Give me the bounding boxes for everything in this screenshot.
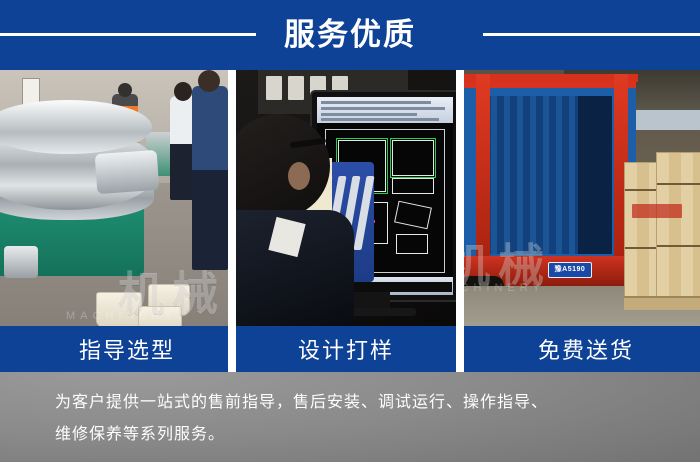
footer-text: 为客户提供一站式的售前指导，售后安装、调试运行、操作指导、 维修保养等系列服务。 bbox=[55, 386, 655, 450]
caption-label-delivery: 免费送货 bbox=[530, 333, 634, 365]
license-plate: 豫A5190 bbox=[548, 262, 592, 278]
service-card-delivery[interactable]: 豫A5190 机械 bbox=[464, 70, 700, 372]
banner-header: 服务优质 bbox=[0, 0, 700, 70]
caption-label-design: 设计打样 bbox=[298, 333, 394, 365]
caption-bar-delivery: 免费送货 bbox=[464, 326, 700, 372]
caption-bar-guidance: 指导选型 bbox=[0, 326, 228, 372]
page-title: 服务优质 bbox=[0, 16, 700, 54]
caption-label-guidance: 指导选型 bbox=[53, 333, 175, 365]
service-card-guidance[interactable]: 机械 MACHINERY 指导选型 bbox=[0, 70, 228, 372]
footer-line-2: 维修保养等系列服务。 bbox=[55, 418, 655, 450]
service-quality-banner: 服务优质 bbox=[0, 0, 700, 462]
footer-line-1: 为客户提供一站式的售前指导，售后安装、调试运行、操作指导、 bbox=[55, 386, 655, 418]
footer-description: 为客户提供一站式的售前指导，售后安装、调试运行、操作指导、 维修保养等系列服务。 bbox=[0, 372, 700, 462]
service-card-design[interactable]: 机械 MACHINERY 设计打样 bbox=[236, 70, 456, 372]
wooden-crate bbox=[656, 152, 700, 300]
crate-stamp bbox=[632, 204, 682, 218]
visitor-figure-2 bbox=[192, 86, 228, 270]
photo-sieve-workshop: 机械 MACHINERY bbox=[0, 70, 228, 326]
photo-truck-loading: 豫A5190 机械 bbox=[464, 70, 700, 326]
caption-bar-design: 设计打样 bbox=[236, 326, 456, 372]
photo-cad-engineer: 机械 MACHINERY bbox=[236, 70, 456, 326]
service-cards: 机械 MACHINERY 指导选型 bbox=[0, 70, 700, 372]
